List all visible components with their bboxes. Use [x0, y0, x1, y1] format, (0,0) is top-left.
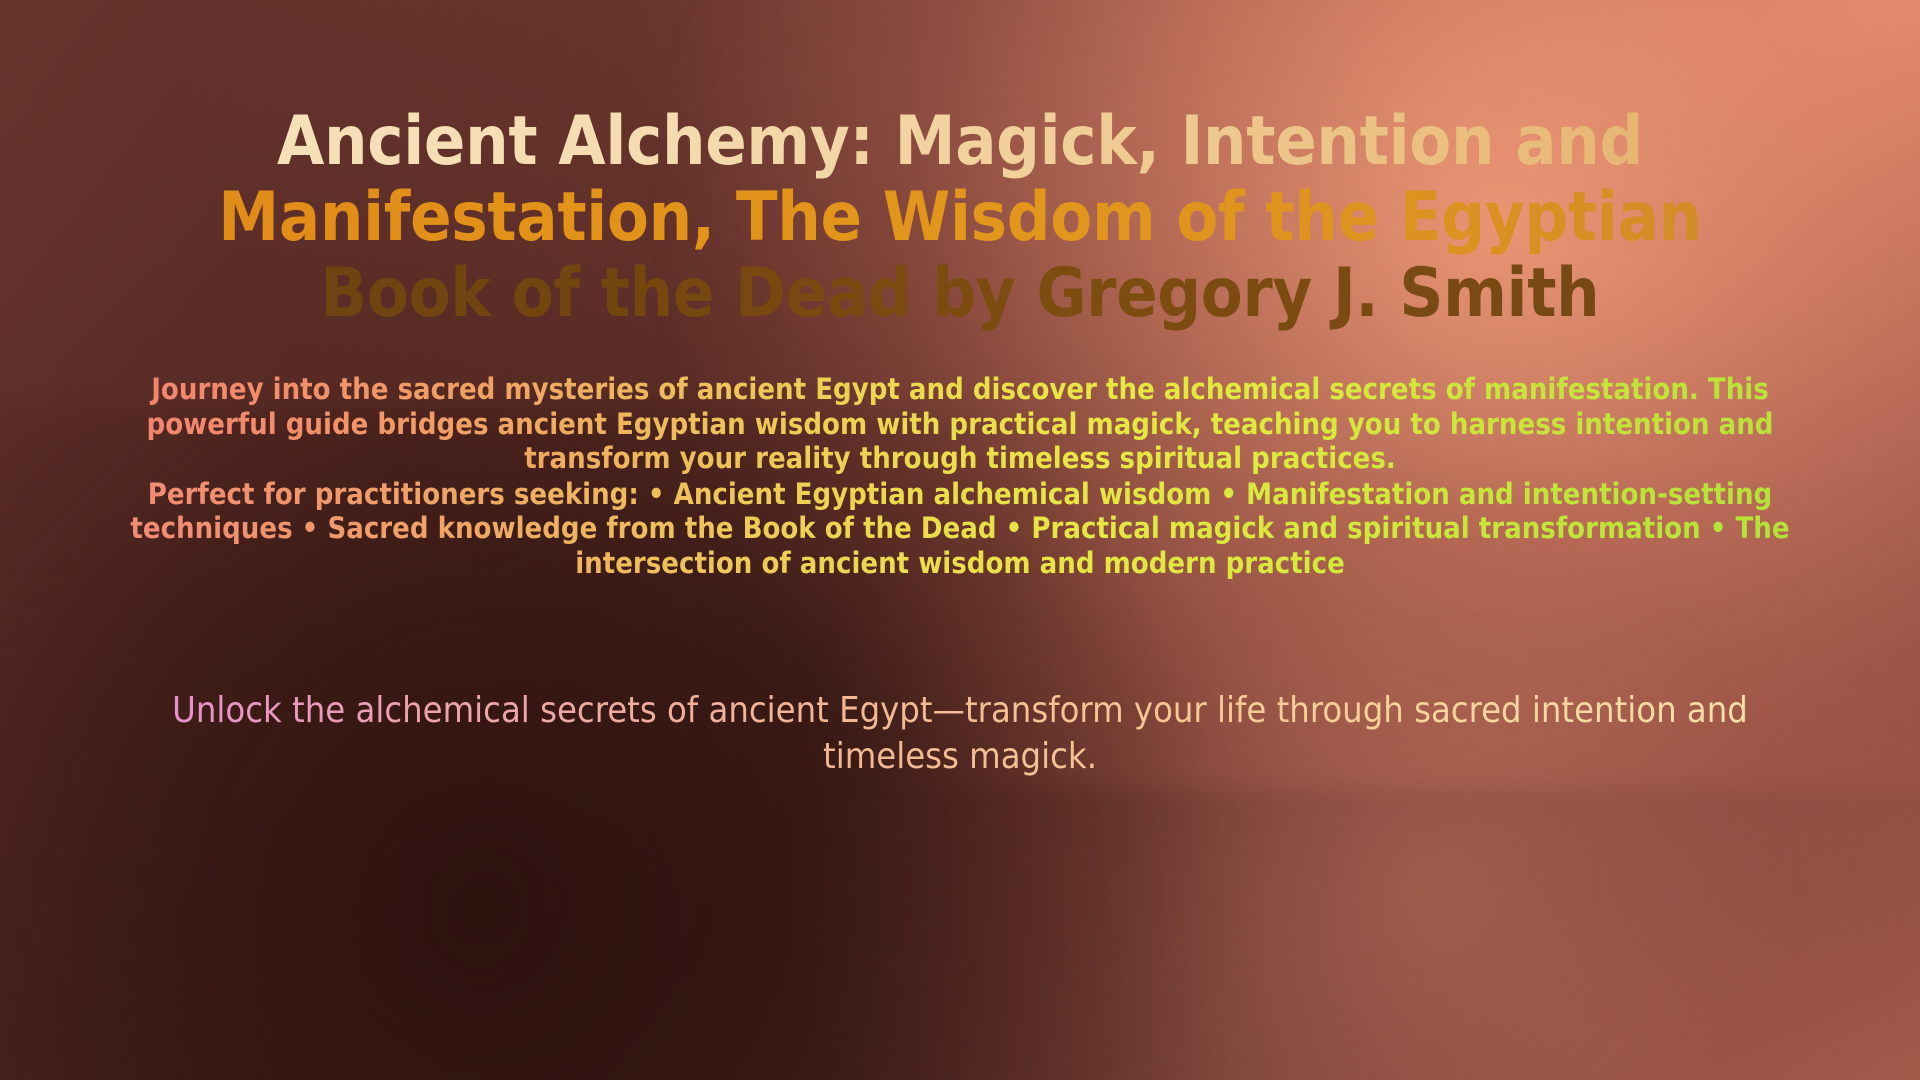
body-copy: Journey into the sacred mysteries of anc…	[130, 372, 1790, 579]
tagline-text: Unlock the alchemical secrets of ancient…	[130, 688, 1790, 780]
body-paragraph-description: Journey into the sacred mysteries of anc…	[130, 372, 1790, 475]
title-line-2: Manifestation, The Wisdom of the Egyptia…	[130, 180, 1790, 256]
promo-slide: Ancient Alchemy: Magick, Intention and M…	[0, 0, 1920, 1080]
slide-content: Ancient Alchemy: Magick, Intention and M…	[0, 104, 1920, 780]
page-title: Ancient Alchemy: Magick, Intention and M…	[130, 104, 1790, 332]
body-paragraph-bullets: Perfect for practitioners seeking: • Anc…	[130, 477, 1790, 580]
tagline: Unlock the alchemical secrets of ancient…	[130, 688, 1790, 780]
title-line-1: Ancient Alchemy: Magick, Intention and	[130, 104, 1790, 180]
title-line-3: Book of the Dead by Gregory J. Smith	[130, 256, 1790, 332]
